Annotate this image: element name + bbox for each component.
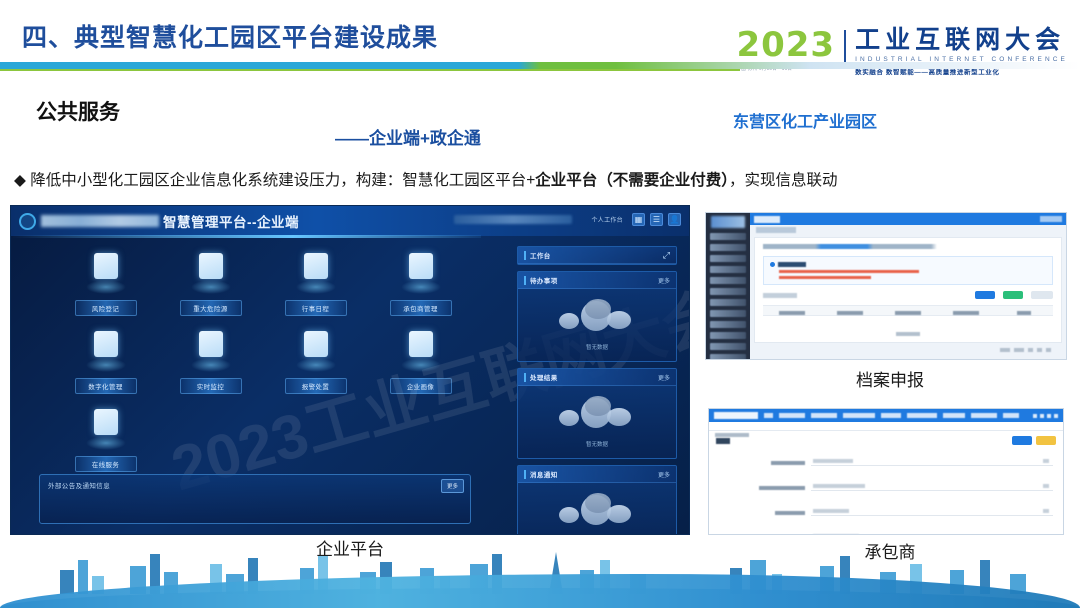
- folder-chart-icon: [394, 328, 448, 372]
- widget-more-link[interactable]: 更多: [658, 470, 670, 479]
- empty-cloud-icon: [555, 493, 639, 535]
- sidebar-item[interactable]: [710, 288, 746, 295]
- sidebar-item[interactable]: [710, 354, 746, 360]
- app-tile[interactable]: 行事日程: [263, 250, 368, 316]
- widget-header: 消息通知 更多: [518, 466, 676, 483]
- sidebar-item[interactable]: [710, 310, 746, 317]
- widget-title: 待办事项: [530, 275, 558, 285]
- sidebar-item[interactable]: [710, 321, 746, 328]
- search-icon[interactable]: [1033, 414, 1037, 418]
- info-icon: [770, 262, 775, 267]
- app-tile-label: 企业画像: [390, 378, 452, 394]
- next-page-button[interactable]: [1046, 348, 1051, 352]
- archive-top-bar: [750, 213, 1066, 225]
- table-column-header: [821, 302, 879, 320]
- form-input[interactable]: [811, 456, 1053, 466]
- sidebar-item[interactable]: [710, 255, 746, 262]
- nav-item[interactable]: [843, 413, 875, 418]
- form-card-title: [716, 438, 730, 444]
- page-size-select[interactable]: [1000, 348, 1010, 352]
- nav-item[interactable]: [881, 413, 901, 418]
- widget-header: 工作台 ⤢: [518, 247, 676, 264]
- archive-declaration-screenshot: [705, 212, 1067, 360]
- sidebar-item[interactable]: [710, 244, 746, 251]
- form-input[interactable]: [811, 481, 1053, 491]
- page-title: 四、典型智慧化工园区平台建设成果: [22, 18, 438, 54]
- user-icon[interactable]: 👤: [668, 213, 681, 226]
- archive-toolbar: [763, 291, 1053, 299]
- title-divider-accent: [0, 69, 740, 71]
- app-tile[interactable]: 风险登记: [53, 250, 158, 316]
- table-column-header: [937, 302, 995, 320]
- platform-logo-icon: [19, 213, 36, 230]
- contractor-screenshot: [708, 408, 1064, 535]
- app-tile[interactable]: 承包商管理: [368, 250, 473, 316]
- widget-column: 工作台 ⤢ 待办事项 更多 暂无数据: [517, 246, 677, 535]
- widget-empty-state: 暂无数据: [518, 386, 676, 458]
- sidebar-item[interactable]: [710, 277, 746, 284]
- archive-box-icon: [79, 250, 133, 294]
- form-row: [719, 502, 1053, 520]
- app-tile[interactable]: 实时监控: [158, 328, 263, 394]
- form-row: [719, 452, 1053, 470]
- list-icon[interactable]: ☰: [650, 213, 663, 226]
- sidebar-item[interactable]: [710, 299, 746, 306]
- top-bar-actions[interactable]: [1040, 216, 1062, 222]
- widget-header: 待办事项 更多: [518, 272, 676, 289]
- app-tile[interactable]: 数字化管理: [53, 328, 158, 394]
- page-jump[interactable]: [1014, 348, 1024, 352]
- app-tile-label: 数字化管理: [75, 378, 137, 394]
- nav-item[interactable]: [811, 413, 837, 418]
- widget-empty-state: 暂无数据: [518, 483, 676, 535]
- widget-result: 处理结果 更多 暂无数据: [517, 368, 677, 459]
- empty-text: 暂无数据: [586, 440, 608, 448]
- table-header-row: [763, 305, 1053, 316]
- form-row: [719, 527, 1053, 535]
- notice-alert-title: [778, 262, 806, 267]
- table-column-header: [879, 302, 937, 320]
- app-tile[interactable]: 报警处置: [263, 328, 368, 394]
- sidebar-item[interactable]: [710, 343, 746, 350]
- contractor-icon: [394, 250, 448, 294]
- notice-alert-line: [779, 270, 919, 273]
- cancel-button[interactable]: [1036, 436, 1056, 445]
- empty-cloud-icon: [555, 396, 639, 438]
- widget-more-link[interactable]: 更多: [658, 373, 670, 382]
- nav-item[interactable]: [764, 413, 773, 418]
- submit-button[interactable]: [1003, 291, 1023, 299]
- bullet-text-bold: 企业平台（不需要企业付费）: [535, 172, 729, 189]
- form-label: [719, 527, 811, 535]
- nav-item[interactable]: [1003, 413, 1019, 418]
- bullet-text-suffix: ，实现信息联动: [729, 172, 838, 189]
- toolbar-tabs[interactable]: [763, 293, 797, 298]
- widget-title: 处理结果: [530, 372, 558, 382]
- archive-sidebar: [706, 213, 750, 359]
- title-divider-rule: [0, 62, 1080, 69]
- save-button[interactable]: [1012, 436, 1032, 445]
- nav-item[interactable]: [907, 413, 937, 418]
- bullet-text-prefix: ◆ 降低中小型化工园区企业信息化系统建设压力，构建：智慧化工园区平台+: [14, 172, 535, 189]
- conference-year: 2023: [736, 28, 835, 62]
- notice-more-button[interactable]: 更多: [441, 479, 464, 493]
- header-glow-line: [11, 235, 481, 238]
- sidebar-item[interactable]: [710, 233, 746, 240]
- form-input[interactable]: [811, 531, 1053, 535]
- active-tab[interactable]: [754, 216, 780, 223]
- app-launcher-grid: 风险登记 重大危险源 行事日程 承包商管理 数字化管理: [53, 250, 473, 472]
- content-header-line: [763, 244, 1053, 249]
- table-empty-state: [755, 323, 1061, 341]
- widget-workbench: 工作台 ⤢: [517, 246, 677, 265]
- widget-header: 处理结果 更多: [518, 369, 676, 386]
- gear-icon[interactable]: [1047, 414, 1051, 418]
- empty-text: 暂无数据: [586, 343, 608, 351]
- settings-doc-icon: [79, 328, 133, 372]
- page-number[interactable]: [1037, 348, 1042, 352]
- section-heading: 公共服务: [36, 96, 120, 126]
- app-tile[interactable]: 重大危险源: [158, 250, 263, 316]
- section-subheading: ——企业端+政企通: [335, 124, 481, 149]
- form-label: [719, 452, 811, 470]
- widget-title: 消息通知: [530, 469, 558, 479]
- notice-alert-box: [763, 256, 1053, 285]
- nav-brand-logo: [714, 412, 758, 419]
- reset-button[interactable]: [1031, 291, 1053, 299]
- app-tile[interactable]: 企业画像: [368, 328, 473, 394]
- header-search-field[interactable]: [454, 215, 572, 224]
- sidebar-item[interactable]: [710, 332, 746, 339]
- form-label: [719, 477, 811, 495]
- enterprise-header-bar: 智慧管理平台--企业端 个人工作台 ▦ ☰ 👤: [11, 206, 689, 236]
- decorative-skyline: [0, 536, 1080, 608]
- app-tile-label: 重大危险源: [180, 300, 242, 316]
- refresh-icon: [79, 406, 133, 450]
- form-input[interactable]: [811, 506, 1053, 516]
- nav-item[interactable]: [943, 413, 965, 418]
- widget-message: 消息通知 更多 暂无数据: [517, 465, 677, 535]
- app-tile-label: 风险登记: [75, 300, 137, 316]
- alarm-icon: [289, 328, 343, 372]
- grid-icon[interactable]: ▦: [632, 213, 645, 226]
- sidebar-logo: [711, 216, 745, 228]
- park-name-label: 东营区化工产业园区: [733, 108, 877, 132]
- notice-panel: 外部公告及通知信息 更多: [39, 474, 471, 524]
- archive-content-panel: [754, 237, 1062, 343]
- table-column-header: [763, 302, 821, 320]
- form-actions: [1012, 436, 1056, 445]
- widget-empty-state: 暂无数据: [518, 289, 676, 361]
- app-tile-label: 实时监控: [180, 378, 242, 394]
- widget-more-link[interactable]: 更多: [658, 276, 670, 285]
- enterprise-platform-screenshot: 智慧管理平台--企业端 个人工作台 ▦ ☰ 👤 风险登记 重大危险源: [10, 205, 690, 535]
- widget-title: 工作台: [530, 250, 551, 260]
- platform-logo-wordmark: [41, 215, 159, 227]
- breadcrumb: [709, 422, 1063, 431]
- app-tile-label: 行事日程: [285, 300, 347, 316]
- monitor-icon: [184, 328, 238, 372]
- nav-actions[interactable]: [1033, 414, 1058, 418]
- form-label: [719, 502, 811, 520]
- widget-todo: 待办事项 更多 暂无数据: [517, 271, 677, 362]
- notice-panel-title: 外部公告及通知信息: [48, 480, 110, 490]
- app-tile[interactable]: 在线服务: [53, 406, 158, 472]
- form-row: [719, 477, 1053, 495]
- expand-icon[interactable]: ⤢: [663, 250, 670, 261]
- empty-cloud-icon: [555, 299, 639, 341]
- logo-divider: [844, 30, 846, 64]
- contractor-form: [709, 452, 1063, 535]
- nav-item[interactable]: [971, 413, 997, 418]
- pagination[interactable]: [755, 348, 1051, 352]
- user-icon[interactable]: [1054, 414, 1058, 418]
- document-edit-icon: [184, 250, 238, 294]
- sidebar-item[interactable]: [710, 266, 746, 273]
- prev-page-button[interactable]: [1028, 348, 1033, 352]
- header-workbench-link[interactable]: 个人工作台: [591, 215, 623, 224]
- app-tile-label: 承包商管理: [390, 300, 452, 316]
- table-column-header: [995, 302, 1053, 320]
- notice-alert-line: [779, 276, 871, 279]
- notice-alert-header: [770, 262, 1046, 267]
- platform-title: 智慧管理平台--企业端: [163, 211, 299, 231]
- caption-archive-declaration: 档案申报: [790, 366, 990, 391]
- app-tile-label: 在线服务: [75, 456, 137, 472]
- app-tile-label: 报警处置: [285, 378, 347, 394]
- form-card-header: [709, 431, 1063, 445]
- bullet-line: ◆ 降低中小型化工园区企业信息化系统建设压力，构建：智慧化工园区平台+企业平台（…: [14, 168, 838, 190]
- contractor-nav-bar: [709, 409, 1063, 422]
- breadcrumb: [756, 227, 796, 233]
- enterprise-header-actions: 个人工作台 ▦ ☰ 👤: [454, 213, 681, 226]
- bell-icon[interactable]: [1040, 414, 1044, 418]
- add-button[interactable]: [975, 291, 995, 299]
- nav-item[interactable]: [779, 413, 805, 418]
- conference-name: 工业互联网大会: [855, 28, 1068, 53]
- report-icon: [289, 250, 343, 294]
